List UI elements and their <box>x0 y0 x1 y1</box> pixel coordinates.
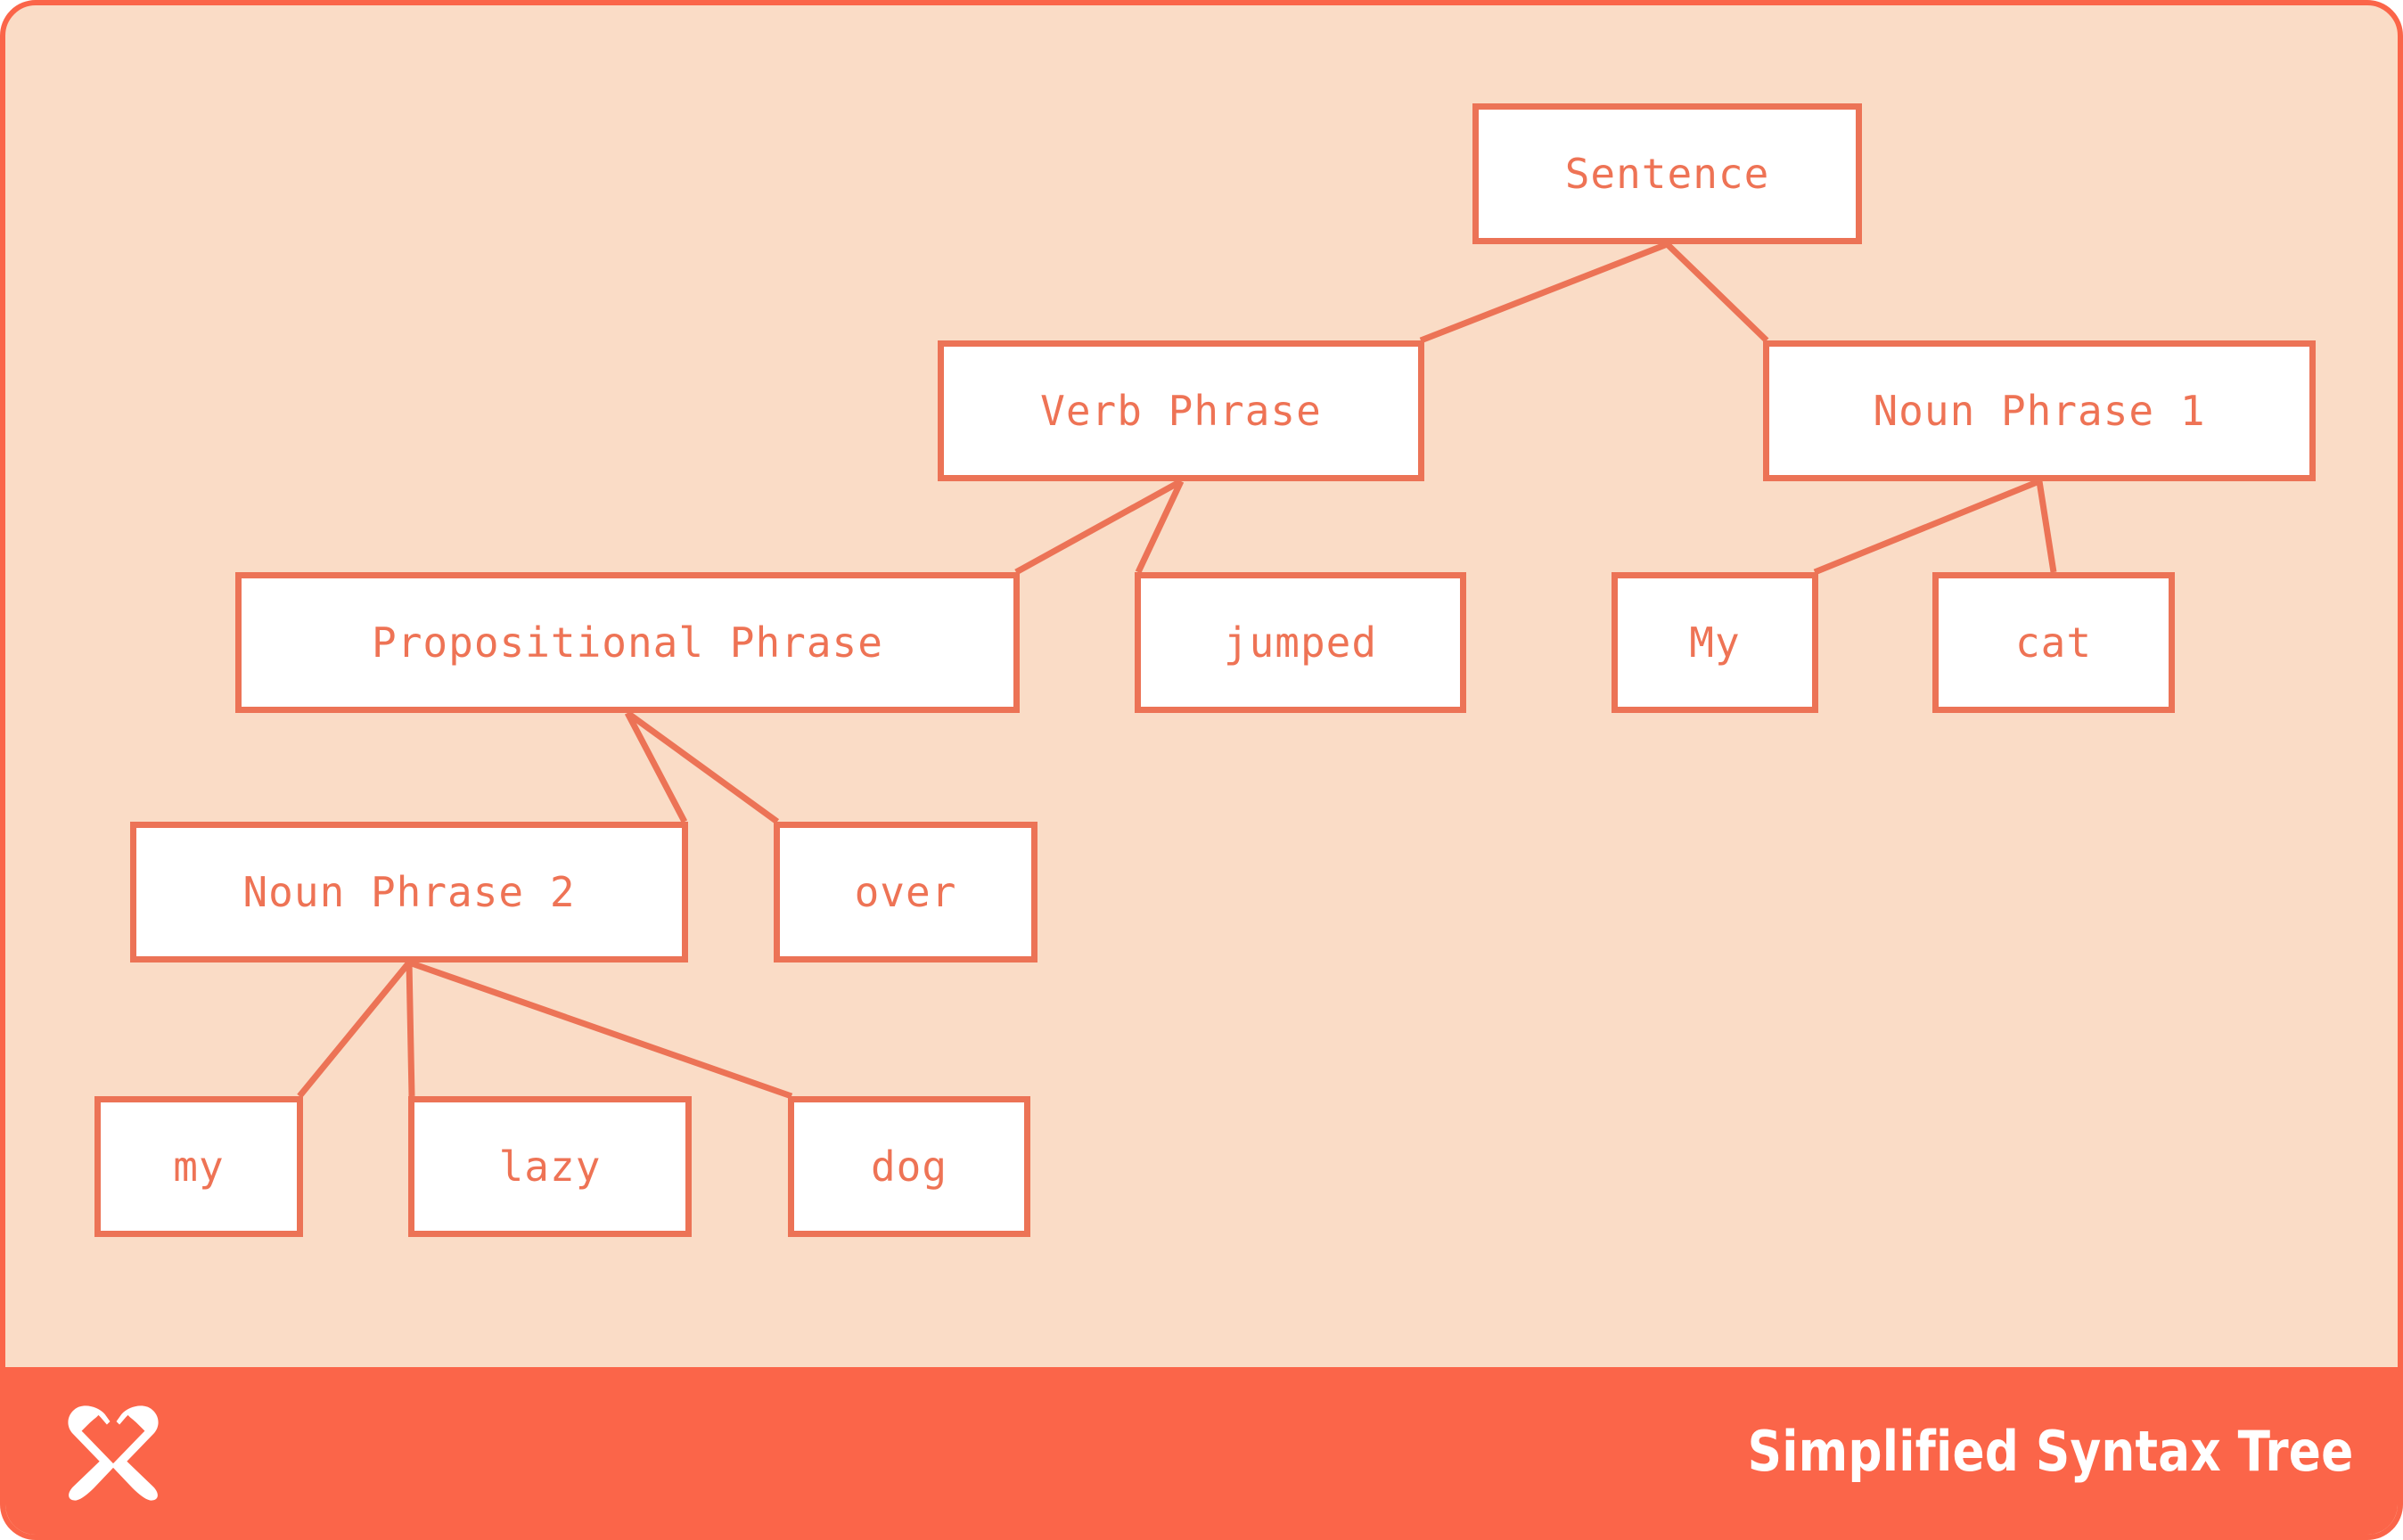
tree-node-verb_phrase[interactable]: Verb Phrase <box>938 340 1424 481</box>
footer-title: Simplified Syntax Tree <box>1747 1419 2353 1484</box>
syntax-tree-card: SentenceVerb PhraseNoun Phrase 1Proposit… <box>0 0 2403 1540</box>
tree-node-label: My <box>1689 622 1740 663</box>
tree-edge-verb_phrase-to-prop_phrase <box>1016 481 1181 572</box>
tree-node-lazy[interactable]: lazy <box>408 1096 692 1237</box>
tree-node-label: Sentence <box>1565 153 1770 194</box>
tree-node-label: Noun Phrase 1 <box>1873 390 2205 431</box>
tree-edge-noun_phrase_1-to-cat <box>2039 481 2054 572</box>
tree-node-label: my <box>173 1146 224 1187</box>
tree-node-sentence[interactable]: Sentence <box>1472 103 1862 244</box>
tree-edge-verb_phrase-to-jumped <box>1138 481 1181 572</box>
tree-node-noun_phrase_2[interactable]: Noun Phrase 2 <box>130 822 688 962</box>
tree-node-label: Noun Phrase 2 <box>242 872 575 913</box>
tree-node-label: Propositional Phrase <box>372 622 883 663</box>
tree-node-label: Verb Phrase <box>1040 390 1322 431</box>
tree-node-dog[interactable]: dog <box>788 1096 1030 1237</box>
butterfly-x-logo-icon <box>61 1398 166 1503</box>
tree-node-label: cat <box>2015 622 2092 663</box>
tree-node-noun_phrase_1[interactable]: Noun Phrase 1 <box>1763 340 2316 481</box>
tree-edge-noun_phrase_2-to-my_low <box>299 962 409 1096</box>
tree-edge-noun_phrase_2-to-dog <box>409 962 791 1096</box>
tree-node-my_cap[interactable]: My <box>1612 572 1818 713</box>
tree-node-cat[interactable]: cat <box>1932 572 2175 713</box>
tree-node-label: lazy <box>499 1146 602 1187</box>
tree-edge-sentence-to-verb_phrase <box>1421 244 1668 340</box>
tree-node-label: over <box>855 872 957 913</box>
tree-node-jumped[interactable]: jumped <box>1135 572 1466 713</box>
footer-bar: Simplified Syntax Tree <box>5 1367 2403 1535</box>
tree-node-label: dog <box>871 1146 947 1187</box>
tree-edge-prop_phrase-to-over <box>627 713 777 822</box>
tree-node-over[interactable]: over <box>774 822 1037 962</box>
tree-node-my_low[interactable]: my <box>94 1096 303 1237</box>
tree-node-label: jumped <box>1224 622 1377 663</box>
tree-node-prop_phrase[interactable]: Propositional Phrase <box>235 572 1020 713</box>
tree-edge-sentence-to-noun_phrase_1 <box>1668 244 1767 340</box>
syntax-tree-diagram: SentenceVerb PhraseNoun Phrase 1Proposit… <box>5 5 2403 1378</box>
tree-edge-noun_phrase_2-to-lazy <box>409 962 412 1096</box>
tree-edge-noun_phrase_1-to-my_cap <box>1815 481 2039 572</box>
tree-edge-prop_phrase-to-noun_phrase_2 <box>627 713 685 822</box>
